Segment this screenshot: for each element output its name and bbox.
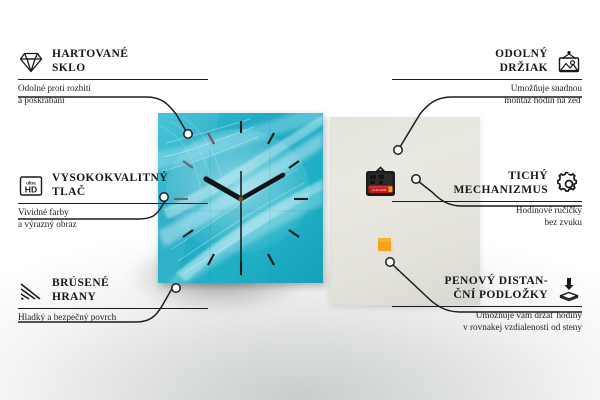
feature-description: Umožňuje vám držať hodiny v rovnakej vzd…	[392, 310, 582, 333]
feature-desc-line1: Odolné proti rozbití	[18, 83, 91, 93]
feature-title-line1: PENOVÝ DISTAN-	[445, 275, 548, 287]
feature-desc-line1: Umožňuje vám držať hodiny	[476, 310, 582, 320]
feature-desc-line2: montáž hodin na zeď	[504, 95, 582, 105]
callout-dot-drziak	[394, 146, 402, 154]
feature-description: Umožňuje snadnou montáž hodin na zeď	[392, 83, 582, 106]
divider	[18, 79, 208, 80]
divider	[18, 308, 208, 309]
feature-title-line2: HRANY	[52, 291, 96, 303]
feature-tichy-mechanizmus: TICHÝ MECHANIZMUS Hodinové ručičky bez z…	[392, 170, 582, 228]
feature-desc-line2: a výrazný obraz	[18, 219, 77, 229]
feature-header: ultra HD VYSOKOKVALITNÝ TLAČ	[18, 172, 208, 199]
feature-header: ODOLNÝ DRŽIAK	[392, 48, 582, 75]
feature-desc-line2: a poškrábání	[18, 95, 65, 105]
feature-title: HARTOVANÉ SKLO	[52, 48, 128, 75]
feature-title-line2: DRŽIAK	[500, 62, 548, 74]
feature-title-line2: TLAČ	[52, 186, 86, 198]
feature-title-line1: BRÚSENÉ	[52, 277, 109, 289]
press-down-pad-icon	[556, 276, 582, 302]
feature-title: ODOLNÝ DRŽIAK	[495, 48, 548, 75]
feature-vysokokvalitny-tlac: ultra HD VYSOKOKVALITNÝ TLAČ Vividné far…	[18, 172, 208, 230]
feature-header: HARTOVANÉ SKLO	[18, 48, 208, 75]
diamond-icon	[18, 49, 44, 75]
feature-penove-distancne-podlozky: PENOVÝ DISTAN- ČNÍ PODLOŽKY Umožňuje vám…	[392, 275, 582, 333]
gear-icon	[556, 171, 582, 197]
feature-header: PENOVÝ DISTAN- ČNÍ PODLOŽKY	[392, 275, 582, 302]
feature-title: BRÚSENÉ HRANY	[52, 277, 109, 304]
feature-title-line2: SKLO	[52, 62, 86, 74]
ultra-hd-icon: ultra HD	[18, 173, 44, 199]
beveled-edges-icon	[18, 278, 44, 304]
feature-title-line1: ODOLNÝ	[495, 48, 548, 60]
feature-title: VYSOKOKVALITNÝ TLAČ	[52, 172, 168, 199]
feature-desc-line1: Hodinové ručičky	[516, 205, 582, 215]
divider	[392, 79, 582, 80]
divider	[18, 203, 208, 204]
feature-title: PENOVÝ DISTAN- ČNÍ PODLOŽKY	[445, 275, 548, 302]
feature-title-line1: VYSOKOKVALITNÝ	[52, 172, 168, 184]
feature-brusene-hrany: BRÚSENÉ HRANY Hladký a bezpečný povrch	[18, 277, 208, 324]
wall-mount-frame-icon	[556, 49, 582, 75]
feature-desc-line1: Vividné farby	[18, 207, 69, 217]
feature-desc-line2: v rovnakej vzdialenosti od steny	[463, 322, 582, 332]
svg-text:HD: HD	[25, 184, 37, 194]
feature-title-line2: MECHANIZMUS	[454, 184, 549, 196]
feature-desc-line1: Hladký a bezpečný povrch	[18, 312, 116, 322]
feature-desc-line2: bez zvuku	[545, 217, 583, 227]
feature-title-line2: ČNÍ PODLOŽKY	[453, 289, 548, 301]
feature-desc-line1: Umožňuje snadnou	[511, 83, 582, 93]
feature-description: Odolné proti rozbití a poškrábání	[18, 83, 208, 106]
feature-hartovane-sklo: HARTOVANÉ SKLO Odolné proti rozbití a po…	[18, 48, 208, 106]
callout-dot-sklo	[184, 130, 192, 138]
feature-header: BRÚSENÉ HRANY	[18, 277, 208, 304]
feature-odolny-drziak: ODOLNÝ DRŽIAK Umožňuje snadnou montáž ho…	[392, 48, 582, 106]
feature-description: Vividné farby a výrazný obraz	[18, 207, 208, 230]
divider	[392, 201, 582, 202]
feature-title-line1: HARTOVANÉ	[52, 48, 128, 60]
feature-header: TICHÝ MECHANIZMUS	[392, 170, 582, 197]
callout-dot-podlozky	[386, 258, 394, 266]
feature-title-line1: TICHÝ	[508, 170, 548, 182]
feature-description: Hodinové ručičky bez zvuku	[392, 205, 582, 228]
infographic-canvas: ALKALINE	[0, 0, 600, 400]
feature-description: Hladký a bezpečný povrch	[18, 312, 208, 324]
divider	[392, 306, 582, 307]
feature-title: TICHÝ MECHANIZMUS	[454, 170, 549, 197]
